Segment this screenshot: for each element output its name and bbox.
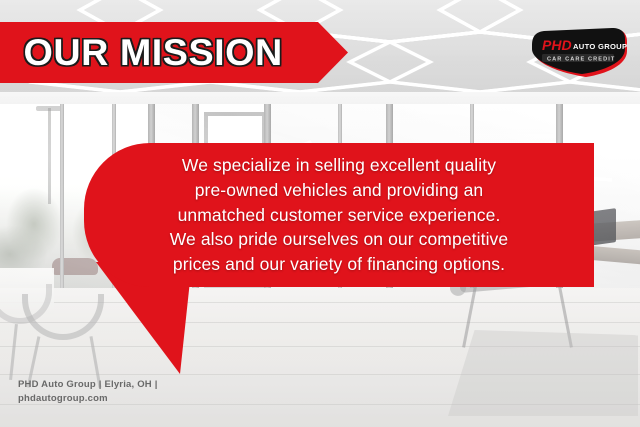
logo-tagline-text: CAR CARE CREDIT — [547, 56, 615, 62]
logo-brand-suffix-text: AUTO GROUP — [573, 42, 627, 51]
mission-statement-text: We specialize in selling excellent quali… — [144, 153, 535, 277]
footer-location-line: PHD Auto Group | Elyria, OH | — [18, 378, 318, 392]
waiting-area-chair — [10, 280, 130, 385]
mission-line: We specialize in selling excellent quali… — [170, 153, 509, 178]
mission-statement-bubble: We specialize in selling excellent quali… — [84, 143, 594, 287]
mission-line: prices and our variety of financing opti… — [170, 252, 509, 277]
mission-line: pre-owned vehicles and providing an — [170, 178, 509, 203]
floor-mat — [448, 330, 638, 416]
footer-website-line: phdautogroup.com — [18, 392, 318, 406]
footer-contact: PHD Auto Group | Elyria, OH | phdautogro… — [18, 378, 318, 407]
header-banner: OUR MISSION — [0, 22, 348, 83]
window-mullion — [60, 104, 64, 294]
mission-line: unmatched customer service experience. — [170, 203, 509, 228]
phd-auto-group-logo: PHD AUTO GROUP CAR CARE CREDIT — [528, 27, 632, 77]
mission-line: We also pride ourselves on our competiti… — [170, 227, 509, 252]
page-title: OUR MISSION — [23, 32, 282, 74]
logo-brand-text: PHD — [542, 37, 572, 53]
mission-poster: OUR MISSION PHD AUTO GROUP CAR CARE CRED… — [0, 0, 640, 427]
